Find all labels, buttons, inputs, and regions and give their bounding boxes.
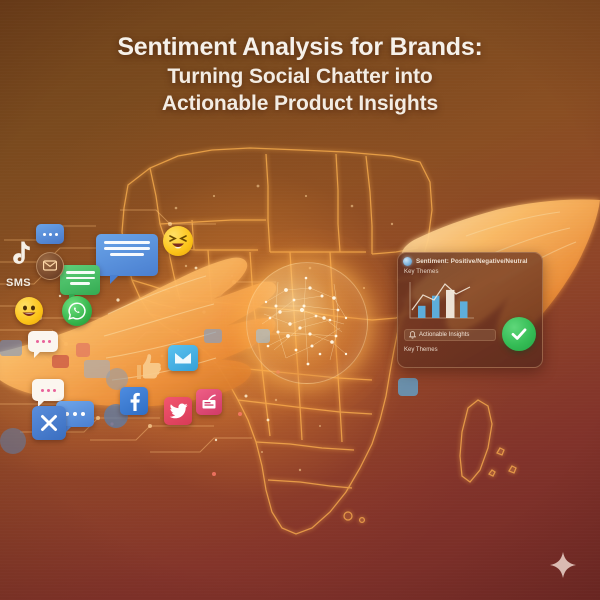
actionable-insights-row[interactable]: Actionable Insights xyxy=(404,329,496,341)
x-twitter-icon[interactable] xyxy=(32,406,66,440)
sparkle-icon xyxy=(550,552,576,578)
panel-subtitle: Key Themes xyxy=(398,268,542,275)
analytics-panel[interactable]: Sentiment: Positive/Negative/Neutral Key… xyxy=(397,252,543,368)
actionable-insights-label: Actionable Insights xyxy=(419,332,469,338)
chat-bubble-white-icon[interactable] xyxy=(32,379,64,401)
panel-header: Sentiment: Positive/Negative/Neutral xyxy=(398,253,542,268)
sms-label: SMS xyxy=(6,277,31,289)
smiling-emoji-icon[interactable] xyxy=(15,297,43,325)
thumbs-up-icon xyxy=(132,352,166,382)
twitter-bird-icon[interactable] xyxy=(164,397,192,425)
ui-chip xyxy=(76,343,90,357)
chat-bubble-dots-icon[interactable] xyxy=(36,224,64,244)
newsletter-icon[interactable] xyxy=(196,389,222,415)
panel-footer-label: Key Themes xyxy=(404,347,438,353)
key-themes-bar-chart[interactable] xyxy=(404,278,478,324)
panel-title: Sentiment: Positive/Negative/Neutral xyxy=(416,258,528,265)
title-line-1: Sentiment Analysis for Brands: xyxy=(0,32,600,63)
badge-circle-icon[interactable] xyxy=(36,252,64,280)
ui-chip xyxy=(0,340,22,356)
whatsapp-icon[interactable] xyxy=(62,296,92,326)
chat-bubble-blue-icon[interactable] xyxy=(96,234,158,276)
title-line-2: Turning Social Chatter into xyxy=(0,63,600,91)
ui-chip xyxy=(52,355,69,368)
facebook-icon[interactable] xyxy=(120,387,148,415)
bell-icon xyxy=(409,326,416,344)
messenger-icon[interactable] xyxy=(168,345,198,371)
chat-bubble-green-icon[interactable] xyxy=(60,265,100,295)
poster-canvas: SMS xyxy=(0,0,600,600)
page-title: Sentiment Analysis for Brands: Turning S… xyxy=(0,32,600,118)
check-circle-icon[interactable] xyxy=(502,317,536,351)
chat-bubble-white-icon[interactable] xyxy=(28,331,58,352)
sentiment-status-icon xyxy=(403,257,412,266)
laughing-emoji-icon[interactable] xyxy=(163,226,193,256)
ui-chip xyxy=(204,329,222,343)
ui-chip xyxy=(398,378,418,396)
ui-chip xyxy=(0,428,26,454)
ui-chip xyxy=(256,329,270,343)
title-line-3: Actionable Product Insights xyxy=(0,90,600,118)
tiktok-icon[interactable] xyxy=(10,240,32,266)
